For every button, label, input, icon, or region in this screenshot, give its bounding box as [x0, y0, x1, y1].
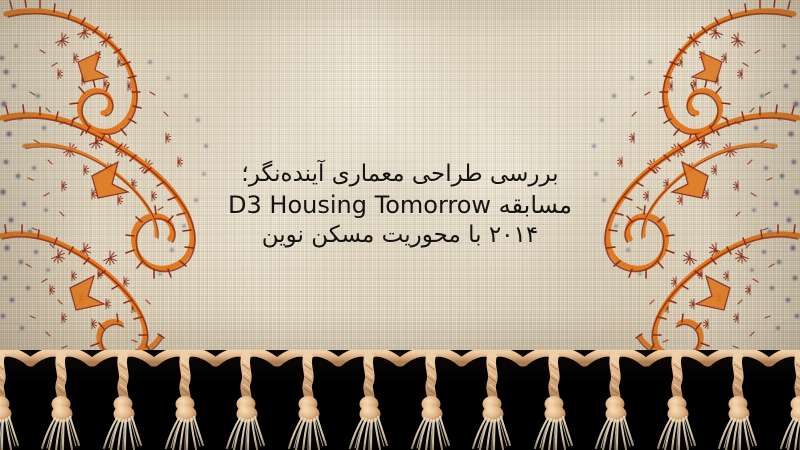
bottom-black-band	[0, 350, 800, 450]
title-line-1: بررسی طراحی معماری آینده‌نگر؛	[0, 160, 800, 190]
textile-background: بررسی طراحی معماری آینده‌نگر؛ مسابقه D3 …	[0, 0, 800, 378]
title-card-slide: بررسی طراحی معماری آینده‌نگر؛ مسابقه D3 …	[0, 0, 800, 450]
tassel-fringe	[0, 350, 800, 450]
title-line-3: ۲۰۱۴ با محوریت مسکن نوین	[0, 221, 800, 251]
slide-title: بررسی طراحی معماری آینده‌نگر؛ مسابقه D3 …	[0, 160, 800, 251]
title-line-2: مسابقه D3 Housing Tomorrow	[0, 190, 800, 221]
